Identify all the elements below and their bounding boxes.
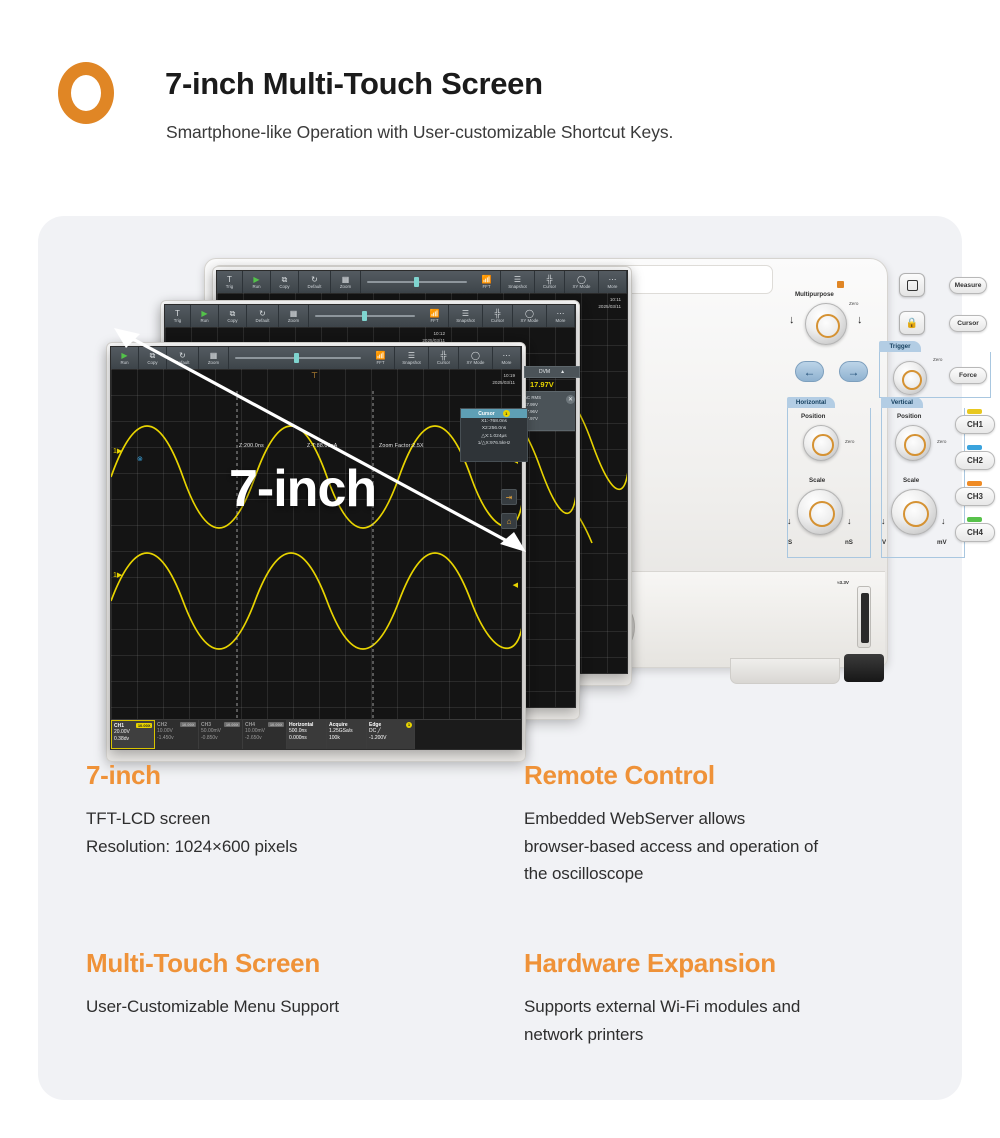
toolbar-copy-back[interactable]: ⧉Copy (271, 271, 299, 293)
trigger-icon: T (175, 310, 180, 317)
hscale-left-icon: ↓ (787, 517, 792, 526)
horizontal-scale-label: Scale (809, 477, 825, 484)
probe-comp-label: ≈3.3V (837, 580, 849, 585)
zero-label-mp: Zero (849, 301, 858, 306)
toolbar-cursor-mid[interactable]: ╬Cursor (483, 305, 513, 327)
more-icon: ⋯ (557, 310, 565, 317)
display-button[interactable] (899, 273, 925, 297)
toolbar-zoom[interactable]: ▦Zoom (199, 347, 229, 369)
toolbar-front: ▶Run ⧉Copy ↻Default ▦Zoom 📶FFT ☰Snapshot… (111, 347, 521, 369)
toolbar-mid: TTrig ▶Run ⧉Copy ↻Default ▦Zoom 📶FFT ☰Sn… (165, 305, 575, 327)
cursor-row-x1: X1:-768.0ns (461, 418, 527, 425)
zoom-info-z: Z:200.0ns (239, 443, 264, 449)
toolbar-more-back[interactable]: ⋯More (599, 271, 627, 293)
scope-foot (844, 654, 884, 682)
dvm-header-bar[interactable]: DVM▲ (524, 366, 580, 378)
toolbar-default[interactable]: ↻Default (167, 347, 199, 369)
cursor-icon: ╬ (495, 310, 501, 317)
page-header: 7-inch Multi-Touch Screen Smartphone-lik… (0, 0, 1000, 200)
toolbar-zoom-mid[interactable]: ▦Zoom (279, 305, 309, 327)
ch2-button[interactable]: CH2 (955, 451, 995, 470)
feature-7-inch: 7-inch TFT-LCD screen Resolution: 1024×6… (86, 760, 486, 860)
status-ch1[interactable]: CH110.00X 20.00V 0.38dv (111, 720, 155, 749)
nav-right-button[interactable]: → (839, 361, 868, 382)
vertical-scale-knob[interactable] (891, 489, 937, 535)
trigger-icon: T (227, 276, 232, 283)
status-ch3[interactable]: CH310.00X 50.00mV -0.850v (199, 720, 243, 749)
probe-comp-slot (857, 586, 871, 648)
status-acquire[interactable]: Acquire 1.25GSa/s 100k (327, 720, 367, 749)
zoom-info-factor: Zoom Factor:2.5X (379, 443, 424, 449)
force-button[interactable]: Force (949, 367, 987, 384)
cursor-row-dx: △X:1.024µs (461, 433, 527, 440)
cursor-row-x2: X2:256.0ns (461, 425, 527, 432)
toolbar-trig-mid[interactable]: TTrig (165, 305, 191, 327)
lock-icon: 🔒 (906, 318, 918, 329)
close-icon[interactable]: ✕ (566, 395, 575, 404)
horizontal-section-label: Horizontal (787, 397, 835, 408)
vertical-unit-right: mV (937, 539, 947, 546)
toolbar-xy-back[interactable]: ◯XY Mode (565, 271, 599, 293)
ch1-marker-top: 1▶ (113, 447, 122, 455)
feature-body: Supports external Wi-Fi modules and netw… (524, 993, 924, 1048)
ch3-indicator (967, 481, 982, 486)
status-horizontal[interactable]: Horizontal 500.0ns 0.000ns (287, 720, 327, 749)
cursor-button[interactable]: Cursor (949, 315, 987, 332)
hscale-right-icon: ↓ (847, 517, 852, 526)
zoom-icon: ▦ (290, 310, 298, 317)
chevron-up-icon: ▲ (560, 369, 565, 375)
trigger-level-knob[interactable] (893, 361, 927, 395)
timestamp-front: 10:192025/03/11 (492, 373, 515, 386)
xy-indicator-icon: ⊗ (137, 455, 143, 463)
toolbar-run-mid[interactable]: ▶Run (191, 305, 219, 327)
copy-icon: ⧉ (230, 310, 236, 317)
feature-remote-control: Remote Control Embedded WebServer allows… (524, 760, 924, 888)
feature-multi-touch: Multi-Touch Screen User-Customizable Men… (86, 948, 486, 1021)
zero-label-vpos: Zero (937, 439, 946, 444)
toolbar-zoom-back[interactable]: ▦Zoom (331, 271, 361, 293)
ch2-indicator (967, 445, 982, 450)
ch1-marker-right-bottom: ◀ (513, 581, 518, 589)
copy-icon: ⧉ (282, 276, 288, 283)
status-bar: CH110.00X 20.00V 0.38dv CH210.00X 10.00V… (111, 719, 521, 749)
zoom-slider-mid[interactable] (309, 305, 421, 327)
rotate-right-icon: ↓ (857, 315, 863, 326)
toolbar-cursor[interactable]: ╬Cursor (429, 347, 459, 369)
scope-stand (730, 658, 840, 684)
cursor-icon: ╬ (441, 352, 447, 359)
toolbar-default-mid[interactable]: ↻Default (247, 305, 279, 327)
toolbar-run-back[interactable]: ▶Run (243, 271, 271, 293)
horizontal-position-label: Position (801, 413, 825, 420)
screen-front: ▶Run ⧉Copy ↻Default ▦Zoom 📶FFT ☰Snapshot… (110, 346, 522, 750)
feature-title: Multi-Touch Screen (86, 948, 486, 979)
feature-hardware-expansion: Hardware Expansion Supports external Wi-… (524, 948, 924, 1048)
page-title: 7-inch Multi-Touch Screen (165, 66, 543, 102)
toolbar-snapshot-back[interactable]: ☰Snapshot (501, 271, 535, 293)
home-icon[interactable]: ⌂ (501, 513, 517, 529)
zoom-icon: ▦ (210, 352, 218, 359)
ch4-indicator (967, 517, 982, 522)
feature-body: Embedded WebServer allows browser-based … (524, 805, 924, 888)
toolbar-fft[interactable]: 📶FFT (367, 347, 395, 369)
vertical-position-label: Position (897, 413, 921, 420)
more-icon: ⋯ (609, 276, 617, 283)
xy-icon: ◯ (577, 276, 586, 283)
toolbar-run[interactable]: ▶Run (111, 347, 139, 369)
zero-label-trig: Zero (933, 357, 942, 362)
dvm-value: 17.97V (530, 380, 554, 389)
toolbar-snapshot-mid[interactable]: ☰Snapshot (449, 305, 483, 327)
timestamp-back: 10:112025/03/11 (598, 297, 621, 310)
export-icon[interactable]: ⇥ (501, 489, 517, 505)
play-icon: ▶ (253, 276, 259, 283)
ch3-button[interactable]: CH3 (955, 487, 995, 506)
cursor-panel: Cursor 1 X1:-768.0ns X2:256.0ns △X:1.024… (460, 408, 528, 462)
toolbar-back: TTrig ▶Run ⧉Copy ↻Default ▦Zoom 📶FFT ☰Sn… (217, 271, 627, 293)
snapshot-icon: ☰ (462, 310, 469, 317)
toolbar-trig-back[interactable]: TTrig (217, 271, 243, 293)
fft-icon: 📶 (482, 276, 492, 283)
play-icon: ▶ (201, 310, 207, 317)
zero-label-hpos: Zero (845, 439, 854, 444)
ch1-indicator (967, 409, 982, 414)
xy-icon: ◯ (471, 352, 480, 359)
toolbar-copy[interactable]: ⧉Copy (139, 347, 167, 369)
horizontal-unit-right: nS (845, 539, 853, 546)
nav-left-button[interactable]: ← (795, 361, 824, 382)
zoom-info-zt: Z-T:88.00nA (307, 443, 337, 449)
undo-icon: ↻ (311, 276, 318, 283)
more-icon: ⋯ (503, 352, 511, 359)
feature-title: Hardware Expansion (524, 948, 924, 979)
rotate-left-icon: ↓ (789, 315, 795, 326)
trigger-position-icon: ⊤ (311, 371, 318, 380)
toolbar-cursor-back[interactable]: ╬Cursor (535, 271, 565, 293)
trigger-section-label: Trigger (879, 341, 921, 352)
fft-icon: 📶 (376, 352, 386, 359)
vertical-position-knob[interactable] (895, 425, 931, 461)
undo-icon: ↻ (259, 310, 266, 317)
ch1-button[interactable]: CH1 (955, 415, 995, 434)
toolbar-copy-mid[interactable]: ⧉Copy (219, 305, 247, 327)
toolbar-fft-back[interactable]: 📶FFT (473, 271, 501, 293)
vertical-scale-label: Scale (903, 477, 919, 484)
control-panel: Multipurpose ↓ ↓ Zero ← → 🔒 Measure Curs… (781, 263, 1000, 565)
feature-body: TFT-LCD screen Resolution: 1024×600 pixe… (86, 805, 486, 860)
cursor-icon: ╬ (547, 276, 553, 283)
zoom-icon: ▦ (342, 276, 350, 283)
horizontal-scale-knob[interactable] (797, 489, 843, 535)
toolbar-more[interactable]: ⋯More (493, 347, 521, 369)
vscale-left-icon: ↓ (881, 517, 886, 526)
feature-body: User-Customizable Menu Support (86, 993, 486, 1021)
snapshot-icon: ☰ (408, 352, 415, 359)
cursor-panel-header[interactable]: Cursor 1 (461, 409, 527, 418)
ch1-marker-bottom: 1▶ (113, 571, 122, 579)
zoom-slider[interactable] (229, 347, 367, 369)
status-ch4[interactable]: CH410.00X 10.00mV -2.650v (243, 720, 287, 749)
vertical-section-label: Vertical (881, 397, 923, 408)
toolbar-default-back[interactable]: ↻Default (299, 271, 331, 293)
vscale-right-icon: ↓ (941, 517, 946, 526)
multipurpose-label: Multipurpose (795, 291, 834, 298)
display-icon (907, 280, 918, 291)
vertical-unit-left: V (882, 539, 886, 546)
copy-icon: ⧉ (150, 352, 156, 359)
lock-button[interactable]: 🔒 (899, 311, 925, 335)
multipurpose-knob[interactable] (805, 303, 847, 345)
toolbar-more-mid[interactable]: ⋯More (547, 305, 575, 327)
measure-button[interactable]: Measure (949, 277, 987, 294)
status-ch2[interactable]: CH210.00X 10.00V -1.450v (155, 720, 199, 749)
toolbar-xy-mid[interactable]: ◯XY Mode (513, 305, 547, 327)
zoom-slider-back[interactable] (361, 271, 473, 293)
feature-title: Remote Control (524, 760, 924, 791)
watermark-label: 7-inch (229, 459, 376, 519)
toolbar-fft-mid[interactable]: 📶FFT (421, 305, 449, 327)
horizontal-unit-left: S (788, 539, 792, 546)
fft-icon: 📶 (430, 310, 440, 317)
feature-title: 7-inch (86, 760, 486, 791)
multipurpose-indicator (837, 281, 844, 288)
status-edge[interactable]: Edge1 DC ╱ -1.200V (367, 720, 415, 749)
ch4-button[interactable]: CH4 (955, 523, 995, 542)
toolbar-xy-mode[interactable]: ◯XY Mode (459, 347, 493, 369)
play-icon: ▶ (121, 352, 127, 359)
snapshot-icon: ☰ (514, 276, 521, 283)
xy-icon: ◯ (525, 310, 534, 317)
undo-icon: ↻ (179, 352, 186, 359)
horizontal-position-knob[interactable] (803, 425, 839, 461)
toolbar-snapshot[interactable]: ☰Snapshot (395, 347, 429, 369)
product-photo: owon® Digital Oscilloscope 12bit HighRes… (100, 248, 900, 698)
cursor-row-freq: 1/△X:976.5kHz (461, 440, 527, 447)
ring-icon (58, 62, 114, 124)
page-subtitle: Smartphone-like Operation with User-cust… (166, 122, 673, 143)
